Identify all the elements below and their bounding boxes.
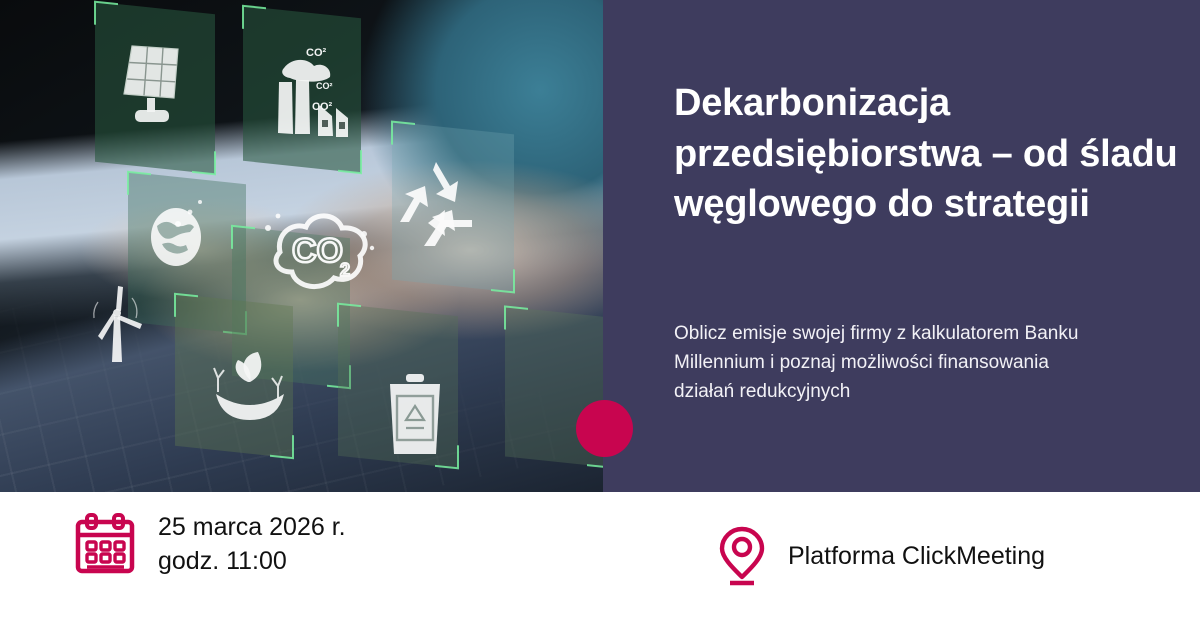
page-subtitle: Oblicz emisje swojej firmy z kalkulatore… (674, 319, 1104, 406)
hud-panel-factory (243, 6, 361, 173)
hud-panel-recycle (392, 122, 514, 293)
event-date-block: 25 marca 2026 r. godz. 11:00 (74, 510, 346, 578)
hero-image: CO² CO² CO² CO 2 (0, 0, 603, 492)
headline-panel: Dekarbonizacja przedsiębiorstwa – od śla… (603, 0, 1200, 492)
calendar-icon (74, 513, 136, 575)
event-meta-bar: 25 marca 2026 r. godz. 11:00 Platforma C… (0, 492, 1200, 627)
hud-panel-solar (95, 2, 215, 175)
location-pin-icon (718, 525, 766, 587)
hud-panel-sprout (338, 304, 458, 469)
event-place-block: Platforma ClickMeeting (718, 525, 1045, 587)
page-title: Dekarbonizacja przedsiębiorstwa – od śla… (674, 78, 1184, 230)
webinar-banner: CO² CO² CO² CO 2 (0, 0, 1200, 627)
event-date-text: 25 marca 2026 r. godz. 11:00 (158, 510, 346, 578)
hud-panel-turbine (175, 294, 293, 458)
event-place-text: Platforma ClickMeeting (788, 539, 1045, 573)
accent-dot (576, 400, 633, 457)
